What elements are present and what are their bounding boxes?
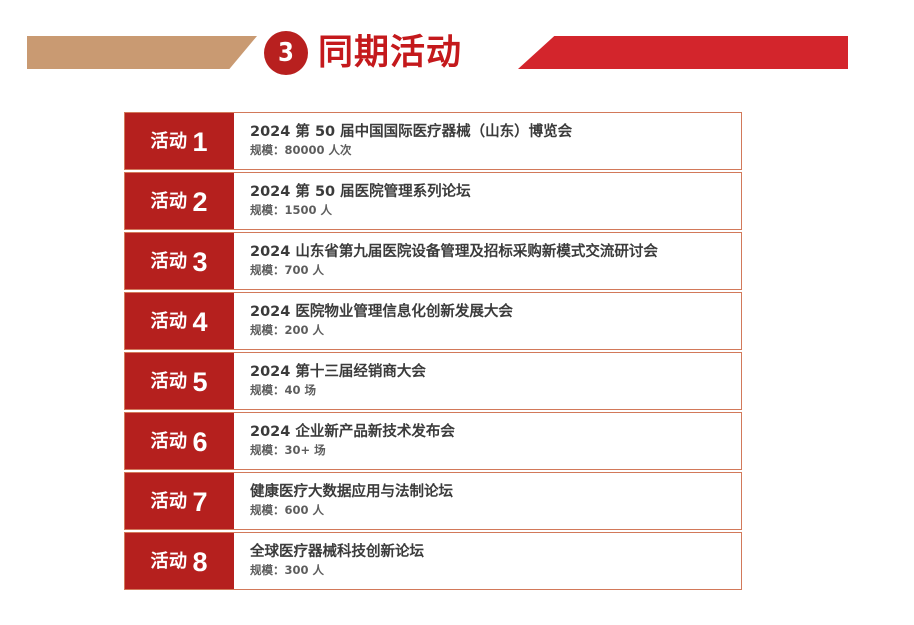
activity-badge-number: 5 — [192, 369, 207, 396]
activity-title: 2024 医院物业管理信息化创新发展大会 — [250, 305, 741, 321]
activity-details: 2024 山东省第九届医院设备管理及招标采购新模式交流研讨会规模：700 人 — [234, 233, 741, 289]
activity-details: 健康医疗大数据应用与法制论坛规模：600 人 — [234, 473, 741, 529]
activity-badge-label: 活动 — [150, 373, 187, 391]
activity-scale: 规模：30+ 场 — [250, 444, 741, 457]
activity-title: 全球医疗器械科技创新论坛 — [250, 545, 741, 561]
activity-title: 2024 第 50 届医院管理系列论坛 — [250, 185, 741, 201]
activity-title: 2024 第 50 届中国国际医疗器械（山东）博览会 — [250, 125, 741, 141]
activity-row[interactable]: 活动22024 第 50 届医院管理系列论坛规模：1500 人 — [124, 172, 742, 230]
activity-badge-number: 7 — [192, 489, 207, 516]
activity-scale: 规模：700 人 — [250, 264, 741, 277]
gold-banner-shape — [27, 36, 257, 69]
activity-row[interactable]: 活动12024 第 50 届中国国际医疗器械（山东）博览会规模：80000 人次 — [124, 112, 742, 170]
activity-scale: 规模：200 人 — [250, 324, 741, 337]
activity-scale: 规模：80000 人次 — [250, 144, 741, 157]
activity-title: 2024 第十三届经销商大会 — [250, 365, 741, 381]
activity-list: 活动12024 第 50 届中国国际医疗器械（山东）博览会规模：80000 人次… — [124, 112, 742, 592]
activity-title: 2024 企业新产品新技术发布会 — [250, 425, 741, 441]
activity-badge-number: 8 — [192, 549, 207, 576]
activity-badge: 活动3 — [124, 232, 234, 290]
activity-scale: 规模：1500 人 — [250, 204, 741, 217]
activity-badge-label: 活动 — [150, 253, 187, 271]
activity-badge-label: 活动 — [150, 493, 187, 511]
activity-badge-number: 6 — [192, 429, 207, 456]
activity-title: 2024 山东省第九届医院设备管理及招标采购新模式交流研讨会 — [250, 245, 741, 261]
page-title: 同期活动 — [318, 30, 462, 76]
red-banner-shape — [518, 36, 848, 69]
page-title-label: 同期活动 — [318, 36, 462, 71]
activity-row[interactable]: 活动32024 山东省第九届医院设备管理及招标采购新模式交流研讨会规模：700 … — [124, 232, 742, 290]
activity-badge: 活动1 — [124, 112, 234, 170]
activity-badge-number: 3 — [192, 249, 207, 276]
activity-details: 全球医疗器械科技创新论坛规模：300 人 — [234, 533, 741, 589]
activity-badge: 活动7 — [124, 472, 234, 530]
section-number-label: 3 — [278, 40, 293, 66]
activity-scale: 规模：300 人 — [250, 564, 741, 577]
activity-badge-label: 活动 — [150, 133, 187, 151]
activity-details: 2024 企业新产品新技术发布会规模：30+ 场 — [234, 413, 741, 469]
activity-badge-number: 1 — [192, 129, 207, 156]
activity-details: 2024 第 50 届医院管理系列论坛规模：1500 人 — [234, 173, 741, 229]
activity-details: 2024 第 50 届中国国际医疗器械（山东）博览会规模：80000 人次 — [234, 113, 741, 169]
activity-row[interactable]: 活动8全球医疗器械科技创新论坛规模：300 人 — [124, 532, 742, 590]
activity-row[interactable]: 活动42024 医院物业管理信息化创新发展大会规模：200 人 — [124, 292, 742, 350]
activity-title: 健康医疗大数据应用与法制论坛 — [250, 485, 741, 501]
activity-badge: 活动5 — [124, 352, 234, 410]
activity-badge: 活动2 — [124, 172, 234, 230]
activity-badge: 活动4 — [124, 292, 234, 350]
activity-badge-label: 活动 — [150, 553, 187, 571]
activity-row[interactable]: 活动7健康医疗大数据应用与法制论坛规模：600 人 — [124, 472, 742, 530]
activity-scale: 规模：40 场 — [250, 384, 741, 397]
activity-row[interactable]: 活动62024 企业新产品新技术发布会规模：30+ 场 — [124, 412, 742, 470]
activity-badge-label: 活动 — [150, 433, 187, 451]
activity-badge: 活动8 — [124, 532, 234, 590]
activity-details: 2024 医院物业管理信息化创新发展大会规模：200 人 — [234, 293, 741, 349]
activity-badge-number: 4 — [192, 309, 207, 336]
activity-badge: 活动6 — [124, 412, 234, 470]
activity-details: 2024 第十三届经销商大会规模：40 场 — [234, 353, 741, 409]
activity-row[interactable]: 活动52024 第十三届经销商大会规模：40 场 — [124, 352, 742, 410]
activity-scale: 规模：600 人 — [250, 504, 741, 517]
section-number-badge: 3 — [264, 31, 308, 75]
page-header: 3 同期活动 — [0, 30, 914, 80]
activity-badge-label: 活动 — [150, 193, 187, 211]
activity-badge-label: 活动 — [150, 313, 187, 331]
activity-badge-number: 2 — [192, 189, 207, 216]
